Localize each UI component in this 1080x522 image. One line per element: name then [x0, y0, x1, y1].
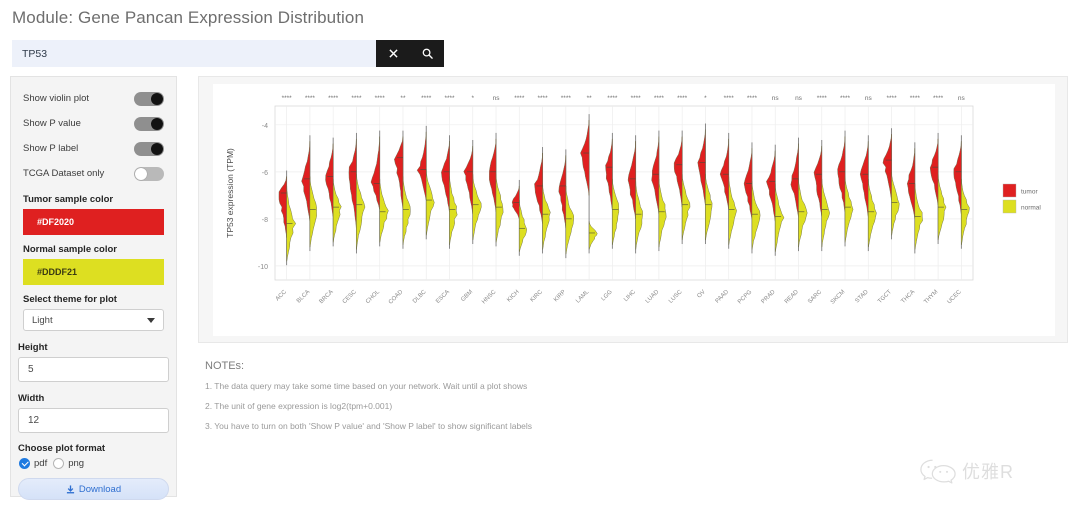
- download-icon: [66, 485, 75, 494]
- wechat-icon: [920, 458, 956, 484]
- legend-label: tumor: [1021, 189, 1038, 196]
- normal-color-swatch[interactable]: #DDDF21: [23, 259, 164, 285]
- x-axis-tick-label: THCA: [900, 289, 916, 305]
- width-input[interactable]: [18, 408, 169, 433]
- toggle-knob: [151, 118, 163, 130]
- radio-png[interactable]: png: [53, 458, 84, 469]
- x-axis-tick-label: LUAD: [645, 289, 661, 305]
- significance-label: ****: [375, 95, 386, 102]
- x-axis-tick-label: STAD: [854, 289, 870, 305]
- toggle-switch-plabel[interactable]: [134, 142, 164, 156]
- x-axis-tick-label: LAML: [575, 289, 591, 305]
- toggle-row-pvalue[interactable]: Show P value: [23, 112, 164, 135]
- x-axis-tick-label: LIHC: [623, 289, 637, 303]
- legend-label: normal: [1021, 205, 1041, 212]
- notes-block: NOTEs: 1. The data query may take some t…: [205, 360, 845, 441]
- significance-label: ****: [514, 95, 525, 102]
- height-input[interactable]: [18, 357, 169, 382]
- legend-swatch: [1003, 184, 1016, 197]
- x-axis-tick-label: KIRC: [530, 289, 545, 304]
- toggle-label-pvalue: Show P value: [23, 118, 134, 129]
- significance-label: ****: [933, 95, 944, 102]
- x-axis-tick-label: TGCT: [877, 289, 893, 305]
- x-axis-tick-label: SARC: [807, 289, 824, 306]
- x-axis-tick-label: HNSC: [481, 289, 498, 306]
- significance-label: *: [472, 95, 475, 102]
- significance-label: ****: [421, 95, 432, 102]
- x-axis-tick-label: GBM: [460, 289, 474, 303]
- search-icon: [422, 48, 433, 59]
- clear-search-button[interactable]: [376, 40, 410, 67]
- toggle-switch-tcga-only[interactable]: [134, 167, 164, 181]
- x-axis-tick-label: OV: [696, 289, 706, 299]
- page-title: Module: Gene Pancan Expression Distribut…: [12, 8, 364, 28]
- theme-select-value: Light: [32, 315, 53, 326]
- x-axis-tick-label: UCEC: [947, 289, 964, 306]
- y-axis-tick-label: -8: [262, 217, 268, 224]
- height-label: Height: [18, 342, 164, 353]
- toggle-label-plabel: Show P label: [23, 143, 134, 154]
- x-axis-tick-label: DLBC: [412, 289, 428, 305]
- x-axis-tick-label: ESCA: [435, 289, 451, 305]
- significance-label: ns: [493, 95, 501, 102]
- chevron-down-icon: [147, 318, 155, 323]
- significance-label: ****: [840, 95, 851, 102]
- significance-label: ****: [282, 95, 293, 102]
- significance-label: **: [587, 95, 593, 102]
- x-axis-tick-label: PRAD: [761, 289, 778, 306]
- notes-title: NOTEs:: [205, 360, 845, 372]
- toggle-row-violin[interactable]: Show violin plot: [23, 87, 164, 110]
- significance-label: ****: [328, 95, 339, 102]
- tumor-color-label: Tumor sample color: [23, 194, 164, 205]
- tumor-color-swatch[interactable]: #DF2020: [23, 209, 164, 235]
- note-line-3: 3. You have to turn on both 'Show P valu…: [205, 421, 845, 431]
- significance-label: ns: [795, 95, 803, 102]
- significance-label: *: [704, 95, 707, 102]
- x-axis-tick-label: LGG: [601, 289, 614, 302]
- normal-color-label: Normal sample color: [23, 244, 164, 255]
- app-root: Module: Gene Pancan Expression Distribut…: [0, 0, 1080, 522]
- controls-sidebar: Show violin plot Show P value Show P lab…: [10, 76, 177, 497]
- x-axis-tick-label: SKCM: [830, 289, 847, 306]
- width-label: Width: [18, 393, 164, 404]
- significance-label: ****: [561, 95, 572, 102]
- download-button[interactable]: Download: [18, 478, 169, 500]
- toggle-label-tcga-only: TCGA Dataset only: [23, 168, 134, 179]
- radio-pdf-label: pdf: [34, 458, 47, 469]
- y-axis-tick-label: -10: [258, 264, 268, 271]
- toggle-switch-violin[interactable]: [134, 92, 164, 106]
- toggle-label-violin: Show violin plot: [23, 93, 134, 104]
- significance-label: ****: [607, 95, 618, 102]
- note-line-2: 2. The unit of gene expression is log2(t…: [205, 401, 845, 411]
- legend-swatch: [1003, 200, 1016, 213]
- significance-label: ****: [631, 95, 642, 102]
- x-axis-tick-label: CHOL: [365, 289, 381, 305]
- significance-label: ****: [910, 95, 921, 102]
- y-axis-tick-label: -4: [262, 123, 268, 130]
- significance-label: ****: [654, 95, 665, 102]
- x-axis-tick-label: BRCA: [319, 289, 335, 305]
- x-axis-tick-label: READ: [784, 289, 801, 306]
- x-axis-tick-label: THYM: [923, 289, 939, 305]
- toggle-switch-pvalue[interactable]: [134, 117, 164, 131]
- x-axis-tick-label: PCPG: [737, 289, 754, 306]
- significance-label: ns: [958, 95, 966, 102]
- toggle-knob: [151, 93, 163, 105]
- radio-pdf-indicator: [19, 458, 30, 469]
- note-line-1: 1. The data query may take some time bas…: [205, 381, 845, 391]
- download-button-label: Download: [79, 484, 121, 495]
- x-axis-tick-label: KIRP: [553, 289, 567, 303]
- plot-format-label: Choose plot format: [18, 443, 164, 454]
- significance-label: ns: [865, 95, 873, 102]
- x-axis-tick-label: BLCA: [296, 289, 311, 304]
- significance-label: ****: [444, 95, 455, 102]
- x-axis-tick-label: KICH: [506, 289, 520, 303]
- significance-label: ****: [351, 95, 362, 102]
- radio-pdf[interactable]: pdf: [19, 458, 47, 469]
- toggle-row-tcga-only[interactable]: TCGA Dataset only: [23, 162, 164, 185]
- significance-label: ****: [724, 95, 735, 102]
- significance-label: ****: [538, 95, 549, 102]
- significance-label: ****: [305, 95, 316, 102]
- plot-panel: -4-6-8-10TP53 expression (TPM)****ACC***…: [198, 76, 1068, 343]
- toggle-knob: [135, 168, 147, 180]
- gene-search-row: [12, 40, 444, 67]
- watermark-text: 优雅R: [962, 458, 1014, 484]
- gene-search-input[interactable]: [12, 40, 376, 67]
- significance-label: ****: [677, 95, 688, 102]
- x-axis-tick-label: CESC: [342, 289, 359, 306]
- y-axis-title: TP53 expression (TPM): [225, 148, 235, 238]
- x-axis-tick-label: ACC: [275, 289, 289, 303]
- significance-label: ****: [817, 95, 828, 102]
- significance-label: ****: [887, 95, 898, 102]
- x-axis-tick-label: COAD: [388, 289, 405, 306]
- watermark: 优雅R: [920, 458, 1014, 484]
- theme-select[interactable]: Light: [23, 309, 164, 331]
- toggle-knob: [151, 143, 163, 155]
- x-axis-tick-label: LUSC: [668, 289, 684, 305]
- submit-search-button[interactable]: [410, 40, 444, 67]
- significance-label: **: [400, 95, 406, 102]
- radio-png-indicator: [53, 458, 64, 469]
- significance-label: ****: [747, 95, 758, 102]
- radio-png-label: png: [68, 458, 84, 469]
- toggle-row-plabel[interactable]: Show P label: [23, 137, 164, 160]
- plot-format-radio-group: pdf png: [19, 458, 164, 469]
- theme-label: Select theme for plot: [23, 294, 164, 305]
- close-icon: [389, 49, 398, 58]
- y-axis-tick-label: -6: [262, 170, 268, 177]
- x-axis-tick-label: PAAD: [715, 289, 731, 305]
- significance-label: ns: [772, 95, 780, 102]
- plot-canvas: -4-6-8-10TP53 expression (TPM)****ACC***…: [213, 84, 1055, 336]
- pancan-violin-chart: -4-6-8-10TP53 expression (TPM)****ACC***…: [213, 84, 1055, 336]
